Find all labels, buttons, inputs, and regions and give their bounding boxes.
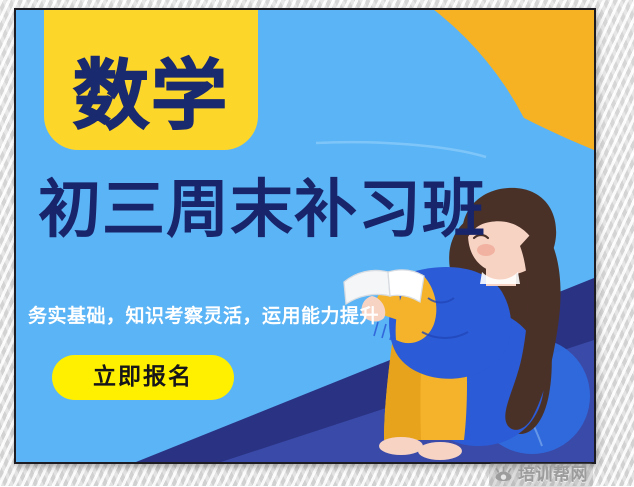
enroll-now-label: 立即报名 <box>93 366 193 389</box>
enroll-now-button[interactable]: 立即报名 <box>52 355 234 400</box>
watermark: 培训帮网 <box>489 463 593 487</box>
subject-badge: 数学 <box>44 8 258 150</box>
watermark-label: 培训帮网 <box>518 467 588 484</box>
poster-subtitle: 务实基础，知识考察灵活，运用能力提升 <box>28 301 379 328</box>
subject-badge-label: 数学 <box>73 58 229 134</box>
poster-headline: 初三周末补习班 <box>38 178 486 241</box>
foot-right <box>418 442 462 460</box>
image-canvas: 数学 初三周末补习班 务实基础，知识考察灵活，运用能力提升 立即报名 培训帮网 <box>0 0 634 486</box>
eye-star-icon <box>494 466 513 485</box>
foot-left <box>379 437 423 455</box>
course-poster: 数学 初三周末补习班 务实基础，知识考察灵活，运用能力提升 立即报名 <box>14 8 596 464</box>
